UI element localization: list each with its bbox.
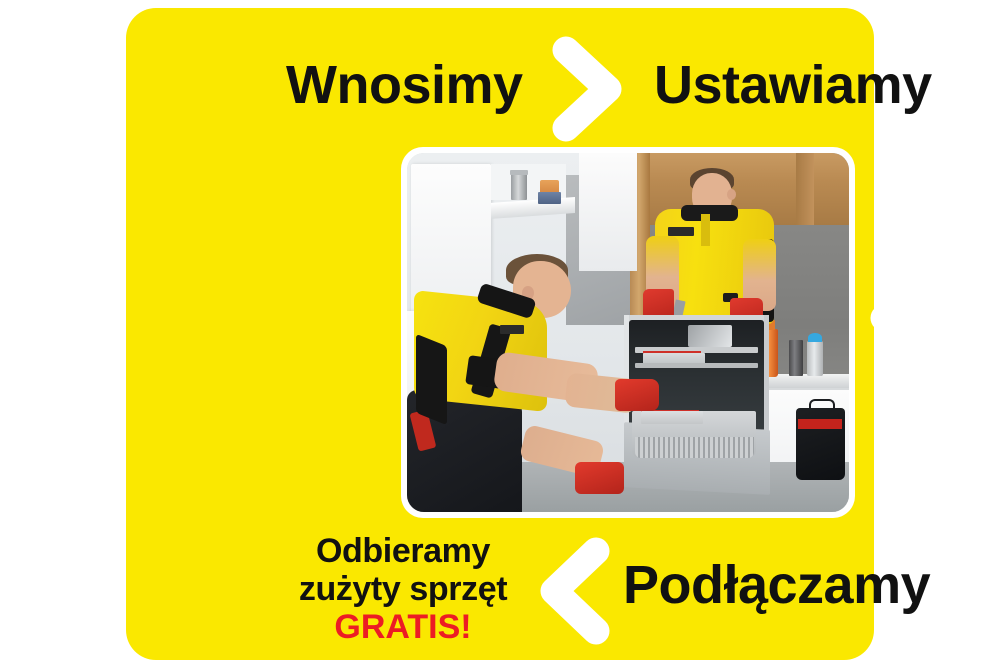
pickup-free-badge: GRATIS!: [274, 608, 532, 646]
step-label-podlaczamy: Podłączamy: [623, 558, 930, 612]
pickup-line-2: zużyty sprzęt: [274, 570, 532, 608]
photo-technician-standing-collar: [681, 205, 738, 221]
photo-dishwasher-mid-rack: [635, 363, 759, 368]
photo-dishwasher-lower-panel: [641, 411, 703, 423]
photo-toolbag-stripe: [798, 419, 842, 430]
photo-technician-standing-placket: [701, 214, 710, 246]
photo-bottle-dark: [789, 340, 802, 376]
photo-technician-standing-logo: [668, 227, 695, 236]
photo-technician-kneeling-glove-lower: [575, 462, 624, 494]
promo-card: Wnosimy Ustawiamy: [126, 8, 874, 660]
photo-jar-clear-cap: [808, 333, 821, 342]
step-label-wnosimy: Wnosimy: [286, 58, 523, 112]
photo-technician-kneeling-stripe: [416, 333, 447, 424]
photo-jar-clear: [807, 341, 823, 375]
photo-technician-kneeling-logo: [500, 325, 524, 334]
chevron-down-icon: [868, 300, 978, 382]
chevron-right-icon: [550, 34, 630, 144]
photo-technician-kneeling-glove-upper: [615, 379, 659, 411]
step-label-ustawiamy: Ustawiamy: [654, 58, 932, 112]
chevron-left-icon: [532, 534, 618, 648]
photo-blue-pot: [538, 192, 561, 203]
photo-wood-post-right: [796, 153, 814, 225]
photo-steel-jar-lid: [510, 170, 529, 175]
pickup-offer-block: Odbieramy zużyty sprzęt GRATIS!: [274, 532, 532, 646]
photo-steel-jar: [511, 173, 527, 200]
photo-dishwasher-tines: [635, 437, 754, 459]
pickup-line-1: Odbieramy: [274, 532, 532, 570]
photo-frame: [401, 147, 855, 518]
photo-technician-standing-ear: [727, 189, 736, 200]
photo-dishwasher-utensils: [688, 325, 732, 347]
installation-photo: [407, 153, 849, 512]
photo-upper-cabinet-right: [579, 153, 636, 271]
